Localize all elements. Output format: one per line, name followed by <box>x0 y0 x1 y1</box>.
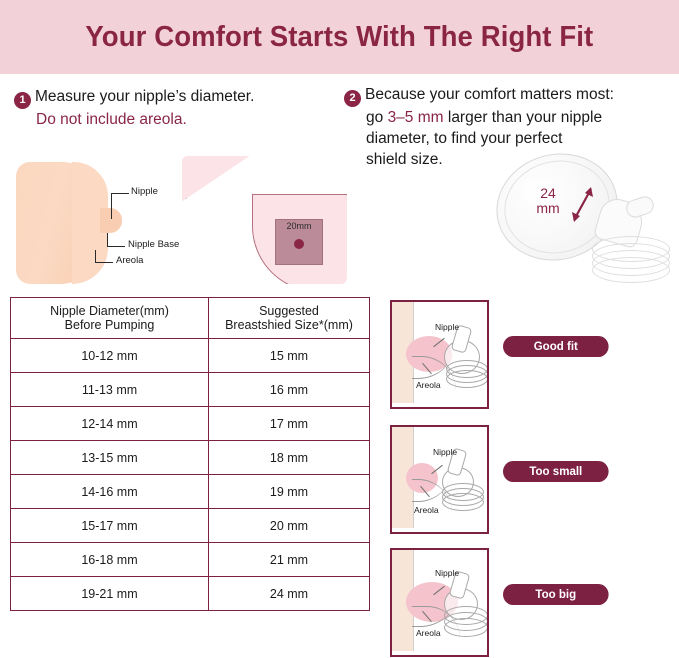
cell-diameter: 16-18 mm <box>11 543 209 577</box>
cell-size: 16 mm <box>208 373 369 407</box>
fit-illustration-card: Nipple Areola <box>390 548 489 657</box>
step-2-number-badge: 2 <box>344 90 361 107</box>
illustrations-section: Nipple Nipple Base Areola 20mm <box>0 150 679 290</box>
shield-ring-3 <box>444 618 488 637</box>
table-header-size-line1: Suggested <box>259 304 319 318</box>
nipple-dot-swatch <box>294 239 304 249</box>
card-label-areola: Areola <box>414 505 439 515</box>
step-1-line-1: 1Measure your nipple’s diameter. <box>14 86 344 109</box>
cell-diameter: 15-17 mm <box>11 509 209 543</box>
cell-size: 18 mm <box>208 441 369 475</box>
nipple-base-leader-vertical <box>107 233 108 247</box>
shield-size-label: 24 mm <box>528 186 568 216</box>
cell-size: 21 mm <box>208 543 369 577</box>
step-1-text: Measure your nipple’s diameter. <box>35 88 254 105</box>
card-label-nipple: Nipple <box>435 568 459 578</box>
page-title: Your Comfort Starts With The Right Fit <box>86 21 594 54</box>
measuring-illustration: 20mm <box>182 156 347 284</box>
size-table: Nipple Diameter(mm) Before Pumping Sugge… <box>10 297 370 611</box>
table-header-row: Nipple Diameter(mm) Before Pumping Sugge… <box>11 298 370 339</box>
shield-ring-3 <box>442 493 484 511</box>
nipple-base-leader-horizontal <box>107 246 125 247</box>
step-1: 1Measure your nipple’s diameter. Do not … <box>14 86 344 130</box>
table-row: 16-18 mm 21 mm <box>11 543 370 577</box>
step-2-line-3: diameter, to find your perfect <box>344 128 674 149</box>
card-label-nipple: Nipple <box>433 447 457 457</box>
fit-example-too-small: Nipple Areola Too small <box>390 425 675 535</box>
areola-leader-horizontal <box>95 262 113 263</box>
size-swatch-label: 20mm <box>276 221 322 231</box>
table-row: 19-21 mm 24 mm <box>11 577 370 611</box>
fit-illustration-card: Nipple Areola <box>390 300 489 409</box>
table-row: 14-16 mm 19 mm <box>11 475 370 509</box>
label-areola: Areola <box>116 255 143 266</box>
infographic-page: Your Comfort Starts With The Right Fit 1… <box>0 0 679 654</box>
cell-size: 24 mm <box>208 577 369 611</box>
cell-diameter: 13-15 mm <box>11 441 209 475</box>
table-row: 12-14 mm 17 mm <box>11 407 370 441</box>
card-label-areola: Areola <box>416 628 441 638</box>
step-1-number-badge: 1 <box>14 92 31 109</box>
step-2-text: Because your comfort matters most: <box>365 86 614 103</box>
cell-diameter: 11-13 mm <box>11 373 209 407</box>
table-header-size-line2: Breastshied Size*(mm) <box>225 318 353 332</box>
shield-ring-3 <box>446 370 488 388</box>
step-1-line-2: Do not include areola. <box>14 109 344 130</box>
table-row: 13-15 mm 18 mm <box>11 441 370 475</box>
step-2-line-2-suffix: larger than your nipple <box>444 109 603 126</box>
card-label-nipple: Nipple <box>435 322 459 332</box>
table-header-diameter: Nipple Diameter(mm) Before Pumping <box>11 298 209 339</box>
fit-status-badge: Good fit <box>503 336 609 357</box>
table-header-size: Suggested Breastshied Size*(mm) <box>208 298 369 339</box>
label-nipple: Nipple <box>131 186 158 197</box>
fit-status-badge: Too small <box>503 461 609 482</box>
table-row: 10-12 mm 15 mm <box>11 339 370 373</box>
header-banner: Your Comfort Starts With The Right Fit <box>0 0 679 74</box>
cell-size: 17 mm <box>208 407 369 441</box>
cell-diameter: 12-14 mm <box>11 407 209 441</box>
table-row: 11-13 mm 16 mm <box>11 373 370 407</box>
table-row: 15-17 mm 20 mm <box>11 509 370 543</box>
cell-size: 19 mm <box>208 475 369 509</box>
fit-status-badge: Too big <box>503 584 609 605</box>
fit-illustration-card: Nipple Areola <box>390 425 489 534</box>
shield-size-unit: mm <box>536 200 559 216</box>
cell-diameter: 10-12 mm <box>11 339 209 373</box>
anatomy-illustration: Nipple Nipple Base Areola <box>12 156 177 286</box>
cell-diameter: 14-16 mm <box>11 475 209 509</box>
fit-example-too-big: Nipple Areola Too big <box>390 548 675 658</box>
cell-size: 15 mm <box>208 339 369 373</box>
step-2-line-2: go 3–5 mm larger than your nipple <box>344 107 674 128</box>
shield-base-ring-4 <box>592 257 670 283</box>
diameter-arrow-icon <box>570 184 596 224</box>
fit-example-good: Nipple Areola Good fit <box>390 300 675 410</box>
breast-shield-illustration: 24 mm <box>486 150 672 290</box>
nipple-leader-horizontal <box>111 193 129 194</box>
nipple-leader-vertical <box>111 193 112 219</box>
step-2-line-2-prefix: go <box>366 109 388 126</box>
shield-size-value: 24 <box>540 185 556 201</box>
steps-section: 1Measure your nipple’s diameter. Do not … <box>0 82 679 144</box>
cell-size: 20 mm <box>208 509 369 543</box>
label-nipple-base: Nipple Base <box>128 239 179 250</box>
table-header-diameter-line1: Nipple Diameter(mm) <box>50 304 169 318</box>
step-2-line-1: 2Because your comfort matters most: <box>344 84 674 107</box>
step-2-highlight: 3–5 mm <box>388 109 444 126</box>
table-header-diameter-line2: Before Pumping <box>65 318 155 332</box>
card-label-areola: Areola <box>416 380 441 390</box>
cell-diameter: 19-21 mm <box>11 577 209 611</box>
